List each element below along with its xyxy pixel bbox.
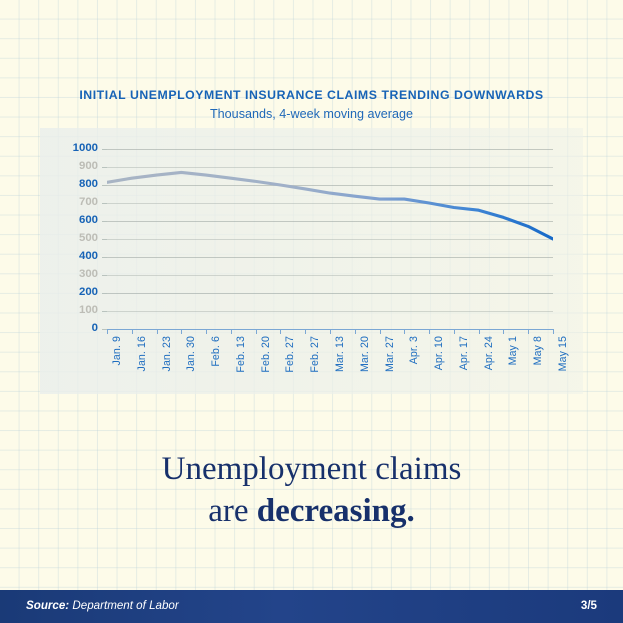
y-axis-label: 1000 [73,143,98,154]
line-series-unemployment-claims [107,149,553,329]
x-axis-tick [330,329,331,334]
headline-line-1: Unemployment claims [0,448,623,490]
plot-area [107,149,553,329]
y-axis-label: 500 [79,233,98,244]
y-axis-label: 100 [79,305,98,316]
x-axis-label: Apr. 17 [458,336,470,370]
x-axis-tick [231,329,232,334]
x-axis-tick [454,329,455,334]
x-axis-label: Jan. 23 [161,336,173,371]
footer-source-label: Source: [26,599,69,612]
x-axis-label: Apr. 3 [408,336,420,364]
x-axis-tick [206,329,207,334]
headline: Unemployment claims are decreasing. [0,448,623,532]
x-axis-tick [256,329,257,334]
x-axis-label: Mar. 13 [334,336,346,372]
x-axis-label: Feb. 27 [284,336,296,373]
x-axis-label: May 15 [557,336,569,371]
y-axis-label: 200 [79,287,98,298]
x-axis-label: Apr. 10 [433,336,445,370]
x-axis-tick [404,329,405,334]
x-axis-label: Feb. 27 [309,336,321,373]
chart-title: INITIAL UNEMPLOYMENT INSURANCE CLAIMS TR… [0,88,623,102]
headline-emphasis: decreasing. [257,493,415,529]
y-axis-label: 400 [79,251,98,262]
x-axis-label: Feb. 6 [210,336,222,367]
footer-bar: Source: Department of Labor 3/5 [0,590,623,623]
x-axis-label: Mar. 27 [384,336,396,372]
y-axis-label: 800 [79,179,98,190]
x-axis-tick [429,329,430,334]
x-axis-tick [503,329,504,334]
x-axis-tick [132,329,133,334]
x-axis-tick [280,329,281,334]
headline-line-2: are decreasing. [0,490,623,532]
x-axis-tick [553,329,554,334]
x-axis-tick [305,329,306,334]
x-axis-tick [181,329,182,334]
x-axis-tick [528,329,529,334]
x-axis-tick [355,329,356,334]
x-axis-label: Mar. 20 [359,336,371,372]
y-axis-label: 0 [92,323,98,334]
y-axis-label: 300 [79,269,98,280]
headline-line-2-prefix: are [208,493,257,529]
y-axis-label: 600 [79,215,98,226]
x-axis-label: Feb. 13 [235,336,247,373]
x-axis-label: Jan. 16 [136,336,148,371]
footer-source-value: Department of Labor [69,599,179,612]
chart-subtitle: Thousands, 4-week moving average [0,107,623,121]
x-axis-tick [107,329,108,334]
x-axis-tick [380,329,381,334]
footer-page-number: 3/5 [581,599,597,612]
x-axis-label: Feb. 20 [260,336,272,373]
x-axis-label: May 1 [507,336,519,365]
x-axis-label: May 8 [532,336,544,365]
x-axis-label: Apr. 24 [483,336,495,370]
x-axis-tick [479,329,480,334]
footer-source: Source: Department of Labor [26,599,179,612]
x-axis-tick [157,329,158,334]
x-axis-label: Jan. 9 [111,336,123,365]
y-axis-label: 900 [79,161,98,172]
x-axis-label: Jan. 30 [185,336,197,371]
y-axis-label: 700 [79,197,98,208]
